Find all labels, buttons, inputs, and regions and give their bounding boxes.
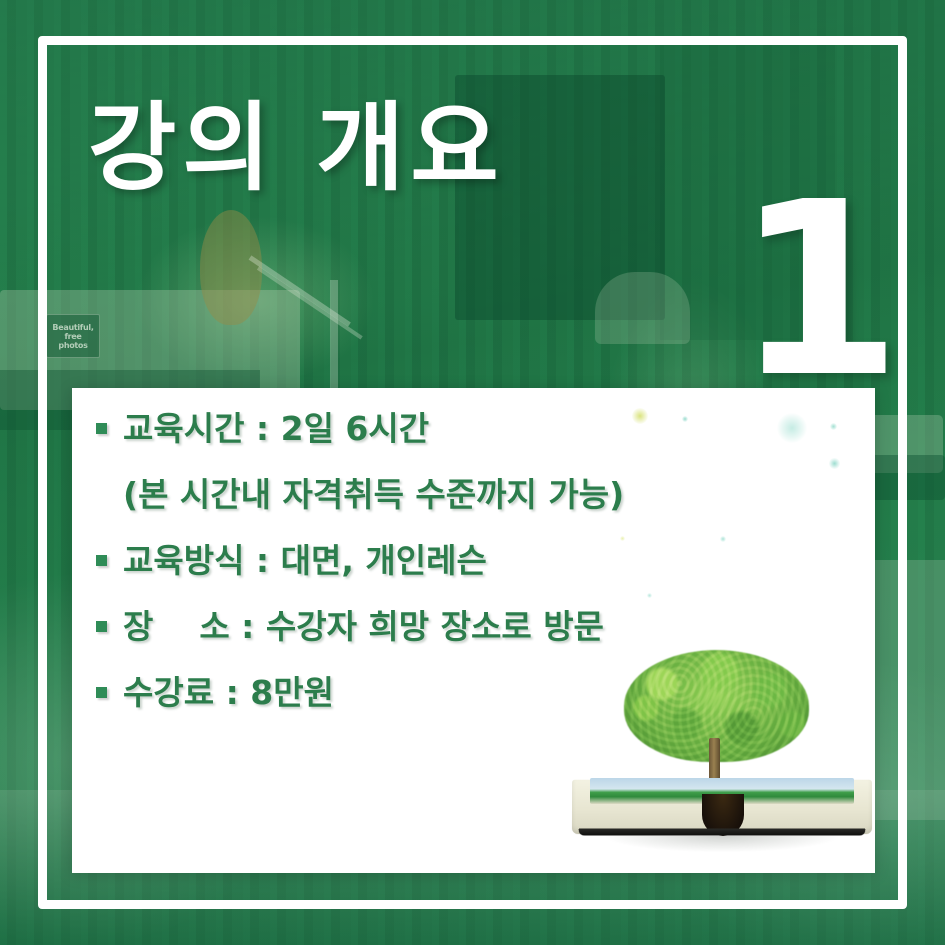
list-item-label: (본 시간내 자격취득 수준까지 가능) — [123, 470, 624, 520]
square-bullet-icon — [96, 621, 107, 632]
list-item: 교육시간 : 2일 6시간 — [96, 404, 796, 456]
list-item: (본 시간내 자격취득 수준까지 가능) — [96, 470, 796, 522]
list-item-label: 교육방식 : 대면, 개인레슨 — [123, 536, 487, 586]
page-title: 강의 개요 — [88, 92, 505, 204]
content-card: 교육시간 : 2일 6시간 (본 시간내 자격취득 수준까지 가능) 교육방식 … — [72, 388, 875, 873]
list-item-label: 장 소 : 수강자 희망 장소로 방문 — [123, 602, 604, 652]
list-item: 장 소 : 수강자 희망 장소로 방문 — [96, 602, 796, 654]
open-book-icon — [572, 778, 872, 840]
book-cover-edge — [577, 828, 867, 835]
slide-root: Beautiful, free photos 강의 개요 1 교육시간 : 2일… — [0, 0, 945, 945]
list-item: 교육방식 : 대면, 개인레슨 — [96, 536, 796, 588]
square-bullet-icon — [96, 687, 107, 698]
bokeh-light-icon — [829, 458, 840, 469]
book-drop-shadow — [606, 836, 838, 852]
square-bullet-icon — [96, 423, 107, 434]
square-bullet-icon — [96, 555, 107, 566]
tree-on-book-illustration — [572, 650, 872, 865]
section-number: 1 — [735, 190, 865, 390]
list-item-label: 수강료 : 8만원 — [123, 668, 334, 718]
bokeh-light-icon — [830, 423, 837, 430]
list-item-label: 교육시간 : 2일 6시간 — [123, 404, 429, 454]
